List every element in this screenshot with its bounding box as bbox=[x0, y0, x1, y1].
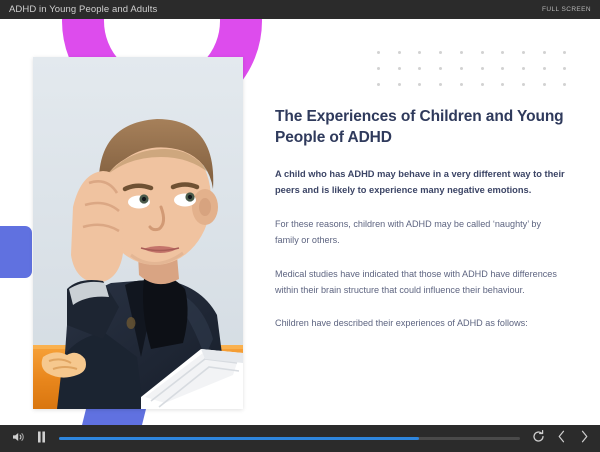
blue-block-decoration bbox=[0, 226, 32, 278]
player-title-bar: ADHD in Young People and Adults FULL SCR… bbox=[0, 0, 600, 19]
volume-icon bbox=[12, 430, 25, 448]
slide-paragraph-1: For these reasons, children with ADHD ma… bbox=[275, 216, 565, 248]
volume-button[interactable] bbox=[5, 430, 31, 448]
slide-text-column: The Experiences of Children and Young Pe… bbox=[275, 107, 565, 331]
replay-button[interactable] bbox=[526, 430, 550, 448]
player-control-bar bbox=[0, 425, 600, 452]
chevron-left-icon bbox=[557, 430, 566, 448]
slide-paragraph-2: Medical studies have indicated that thos… bbox=[275, 266, 565, 298]
pause-button[interactable] bbox=[31, 430, 51, 448]
slide-stage: The Experiences of Children and Young Pe… bbox=[0, 19, 600, 425]
replay-icon bbox=[532, 430, 545, 448]
slide-photo bbox=[33, 57, 243, 409]
chevron-right-icon bbox=[580, 430, 589, 448]
slide-lede-paragraph: A child who has ADHD may behave in a ver… bbox=[275, 167, 565, 199]
pause-icon bbox=[37, 430, 46, 448]
slide-paragraph-3: Children have described their experience… bbox=[275, 315, 565, 331]
course-title: ADHD in Young People and Adults bbox=[0, 4, 157, 15]
seek-progress-fill bbox=[59, 437, 419, 440]
course-player: ADHD in Young People and Adults FULL SCR… bbox=[0, 0, 600, 452]
fullscreen-button[interactable]: FULL SCREEN bbox=[542, 6, 600, 13]
dot-grid-decoration bbox=[377, 51, 584, 99]
previous-slide-button[interactable] bbox=[550, 430, 572, 448]
seek-bar[interactable] bbox=[59, 437, 520, 440]
next-slide-button[interactable] bbox=[572, 430, 596, 448]
slide-heading: The Experiences of Children and Young Pe… bbox=[275, 107, 565, 148]
